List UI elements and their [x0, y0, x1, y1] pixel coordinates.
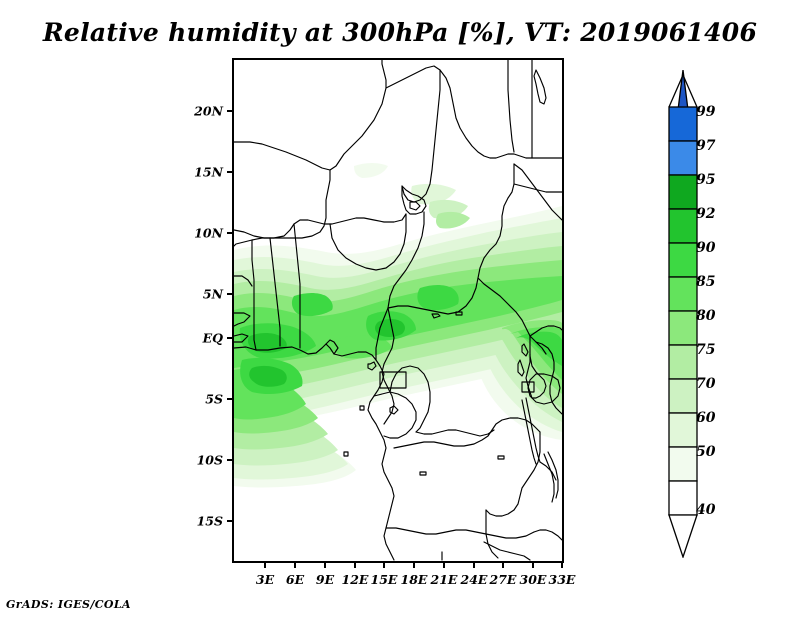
ytick-label: 20N [194, 104, 223, 119]
ytick-mark [227, 459, 232, 461]
xtick-label: 30E [520, 572, 547, 587]
xtick-label: 21E [431, 572, 458, 587]
xtick-label: 9E [316, 572, 334, 587]
grads-credit: GrADS: IGES/COLA [6, 598, 131, 611]
xtick-mark [324, 563, 326, 568]
ytick-label: 15S [197, 514, 223, 529]
colorbar: 99 97 95 92 90 85 80 75 70 60 50 40 [663, 70, 783, 560]
xtick-mark [502, 563, 504, 568]
ytick-mark [227, 337, 232, 339]
xtick-label: 33E [549, 572, 576, 587]
colorbar-label: 60 [696, 410, 715, 426]
grads-plot-canvas: Relative humidity at 300hPa [%], VT: 201… [0, 0, 800, 618]
map-panel: 20N 15N 10N 5N EQ 5S 10S 15S 3E 6E 9E 12… [232, 58, 564, 563]
xtick-label: 6E [286, 572, 304, 587]
ytick-label: 10N [194, 226, 223, 241]
ytick-label: 15N [194, 165, 223, 180]
xtick-mark [561, 563, 563, 568]
xtick-mark [383, 563, 385, 568]
ytick-mark [227, 398, 232, 400]
colorbar-label: 95 [696, 172, 715, 188]
ytick-label: 10S [197, 453, 223, 468]
colorbar-label: 75 [696, 342, 715, 358]
xtick-label: 3E [256, 572, 274, 587]
map-graphic [234, 60, 562, 561]
colorbar-label: 40 [696, 502, 715, 518]
colorbar-label: 70 [696, 376, 715, 392]
xtick-label: 18E [401, 572, 428, 587]
xtick-mark [473, 563, 475, 568]
ytick-label: 5S [205, 392, 223, 407]
colorbar-label: 80 [696, 308, 715, 324]
xtick-mark [264, 563, 266, 568]
ytick-label: EQ [203, 331, 223, 346]
xtick-mark [354, 563, 356, 568]
colorbar-label: 50 [696, 444, 715, 460]
xtick-label: 24E [461, 572, 488, 587]
xtick-mark [413, 563, 415, 568]
ytick-label: 5N [203, 287, 223, 302]
map-plot-frame [232, 58, 564, 563]
xtick-mark [532, 563, 534, 568]
colorbar-label: 92 [696, 206, 715, 222]
xtick-mark [443, 563, 445, 568]
ytick-mark [227, 110, 232, 112]
colorbar-label: 97 [696, 138, 715, 154]
xtick-label: 15E [371, 572, 398, 587]
colorbar-label: 90 [696, 240, 715, 256]
page-title: Relative humidity at 300hPa [%], VT: 201… [0, 18, 800, 47]
ytick-mark [227, 520, 232, 522]
colorbar-graphic [663, 70, 699, 558]
xtick-label: 12E [342, 572, 369, 587]
ytick-mark [227, 232, 232, 234]
ytick-mark [227, 293, 232, 295]
ytick-mark [227, 171, 232, 173]
xtick-mark [294, 563, 296, 568]
colorbar-label: 85 [696, 274, 715, 290]
colorbar-label: 99 [696, 104, 715, 120]
xtick-label: 27E [490, 572, 517, 587]
